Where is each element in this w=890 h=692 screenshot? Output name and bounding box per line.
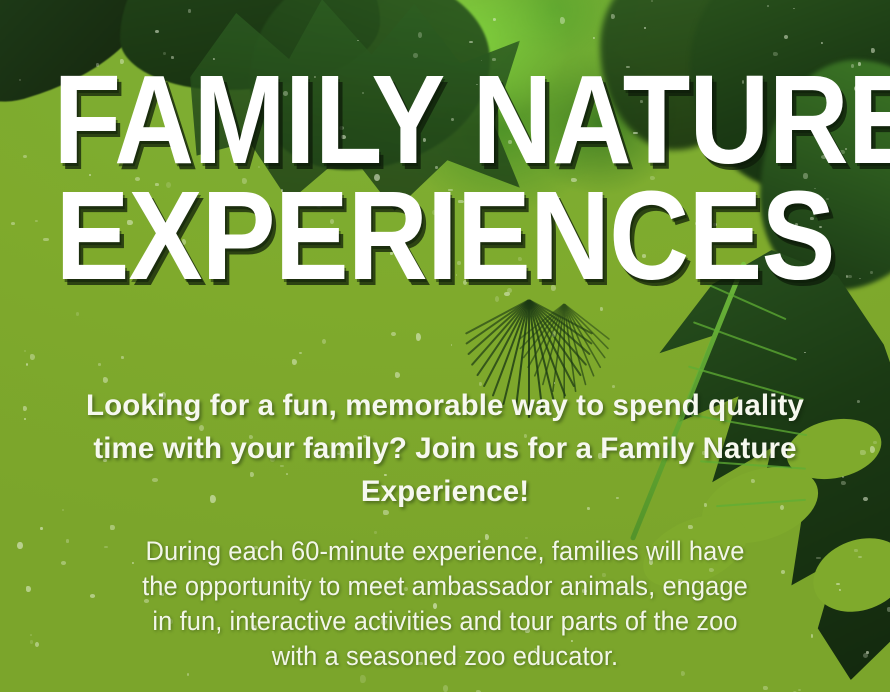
body-line-4: with a seasoned zoo educator.: [73, 639, 816, 674]
title-line-1: FAMILY NATURE: [53, 62, 836, 178]
body-line-1: During each 60-minute experience, famili…: [73, 534, 816, 569]
subtitle: Looking for a fun, memorable way to spen…: [52, 385, 838, 513]
subtitle-line-1: Looking for a fun, memorable way to spen…: [86, 389, 700, 422]
body-line-2: the opportunity to meet ambassador anima…: [73, 569, 816, 604]
title-line-2: EXPERIENCES: [53, 178, 836, 294]
body-paragraph: During each 60-minute experience, famili…: [73, 534, 816, 674]
body-line-3: in fun, interactive activities and tour …: [73, 604, 816, 639]
poster-canvas: FAMILY NATURE EXPERIENCES Looking for a …: [0, 0, 890, 692]
page-title: FAMILY NATURE EXPERIENCES: [53, 62, 836, 294]
poster-content: FAMILY NATURE EXPERIENCES Looking for a …: [0, 0, 890, 692]
